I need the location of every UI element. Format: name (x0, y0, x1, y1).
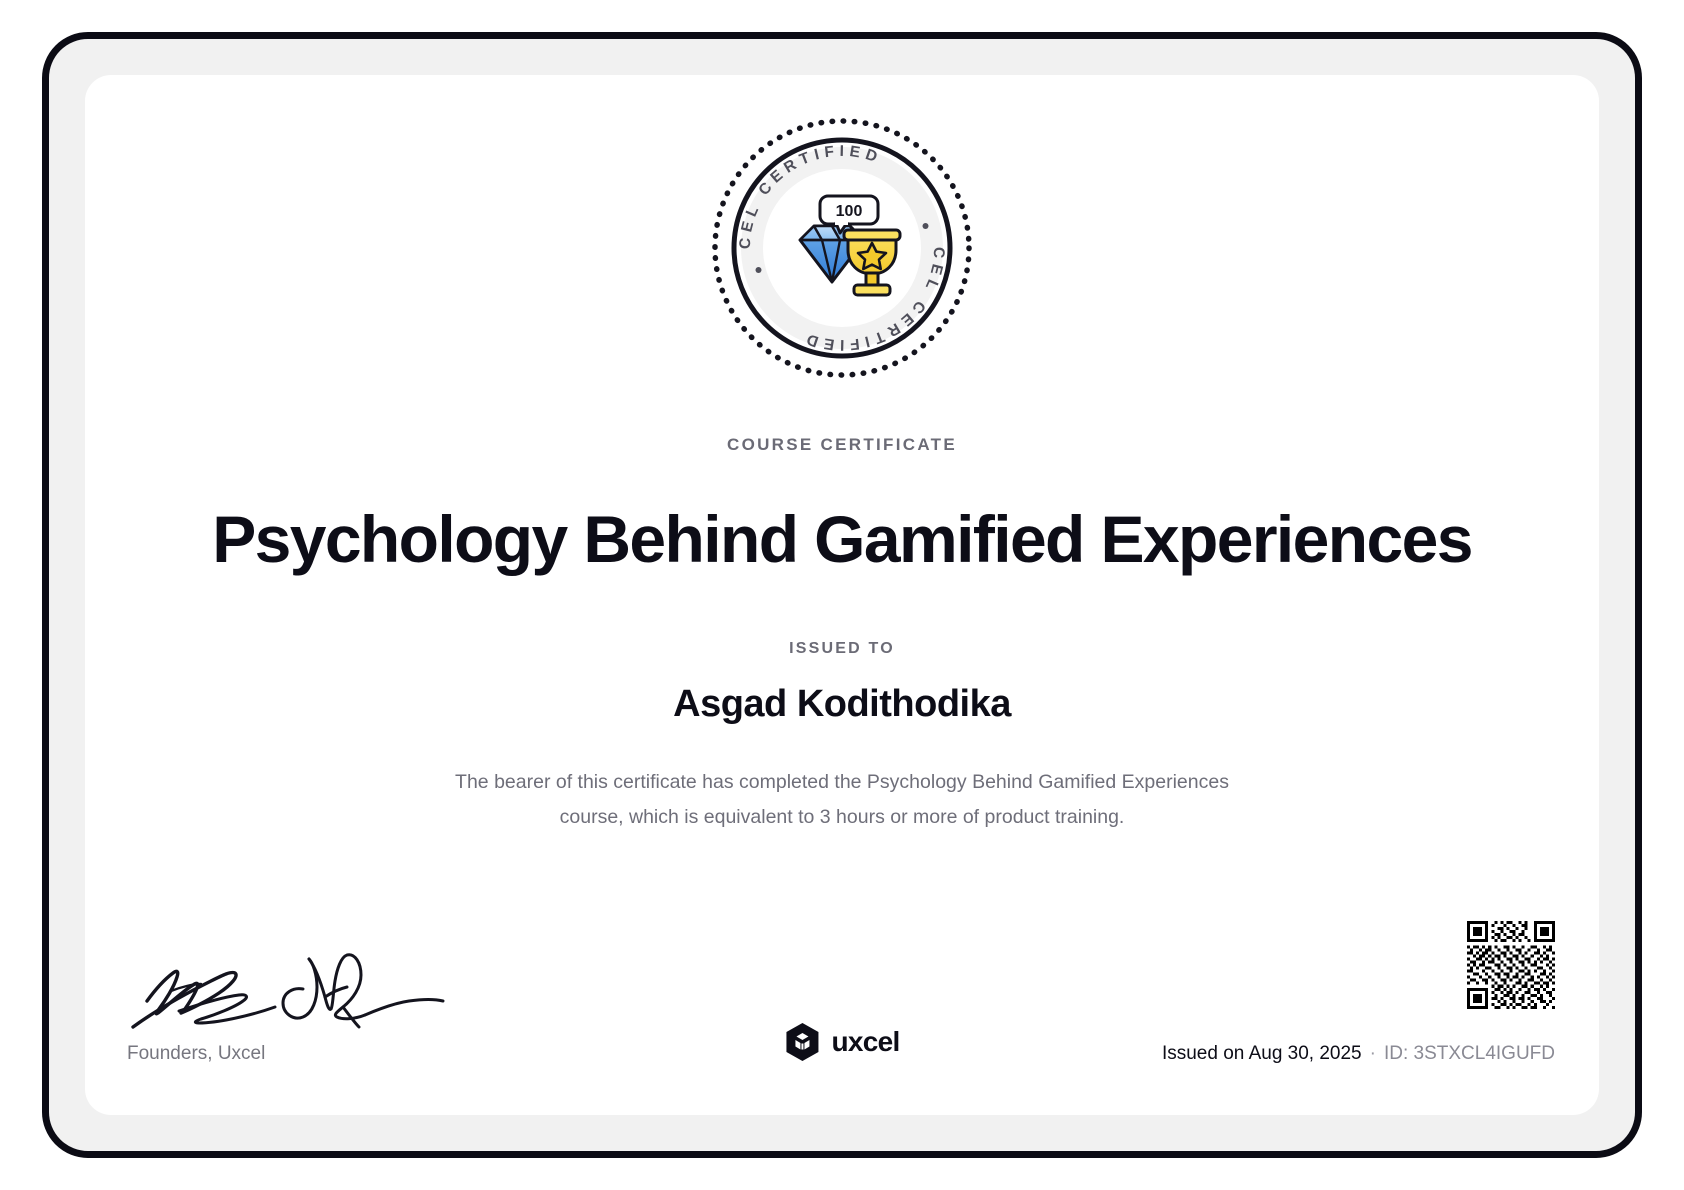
meta-separator: · (1362, 1043, 1384, 1064)
issued-on-text: Issued on Aug 30, 2025 (1162, 1043, 1362, 1064)
signature-one-icon (127, 961, 302, 1035)
uxcel-brand: uxcel (784, 1022, 899, 1062)
uxcel-wordmark: uxcel (831, 1026, 899, 1058)
qr-code[interactable] (1467, 921, 1555, 1009)
signature-block: Founders, Uxcel (127, 957, 457, 1065)
uxcel-logo-icon (784, 1022, 820, 1062)
certificate-description: The bearer of this certificate has compl… (447, 765, 1237, 835)
signature-two-icon (279, 953, 459, 1031)
recipient-name: Asgad Kodithodika (85, 683, 1599, 726)
eyebrow-label: COURSE CERTIFICATE (85, 435, 1599, 455)
founders-label: Founders, Uxcel (127, 1043, 457, 1065)
issued-to-label: ISSUED TO (85, 640, 1599, 658)
course-title: Psychology Behind Gamified Experiences (85, 500, 1599, 578)
issue-meta-line: Issued on Aug 30, 2025·ID: 3STXCL4IGUFD (995, 1043, 1555, 1065)
signature-images (127, 957, 457, 1035)
score-bubble-value: 100 (836, 203, 863, 220)
certificate-footer: Founders, Uxcel uxcel (85, 935, 1599, 1065)
uxcel-certified-seal: UXCEL CERTIFIED UXCEL CERTIFIED (706, 112, 978, 384)
certificate-id: ID: 3STXCL4IGUFD (1384, 1043, 1555, 1064)
certificate-meta: Issued on Aug 30, 2025·ID: 3STXCL4IGUFD (995, 1043, 1555, 1065)
certificate-outer-frame: UXCEL CERTIFIED UXCEL CERTIFIED (42, 32, 1642, 1158)
certificate-panel: UXCEL CERTIFIED UXCEL CERTIFIED (85, 75, 1599, 1115)
certificate-page: UXCEL CERTIFIED UXCEL CERTIFIED (0, 0, 1684, 1190)
